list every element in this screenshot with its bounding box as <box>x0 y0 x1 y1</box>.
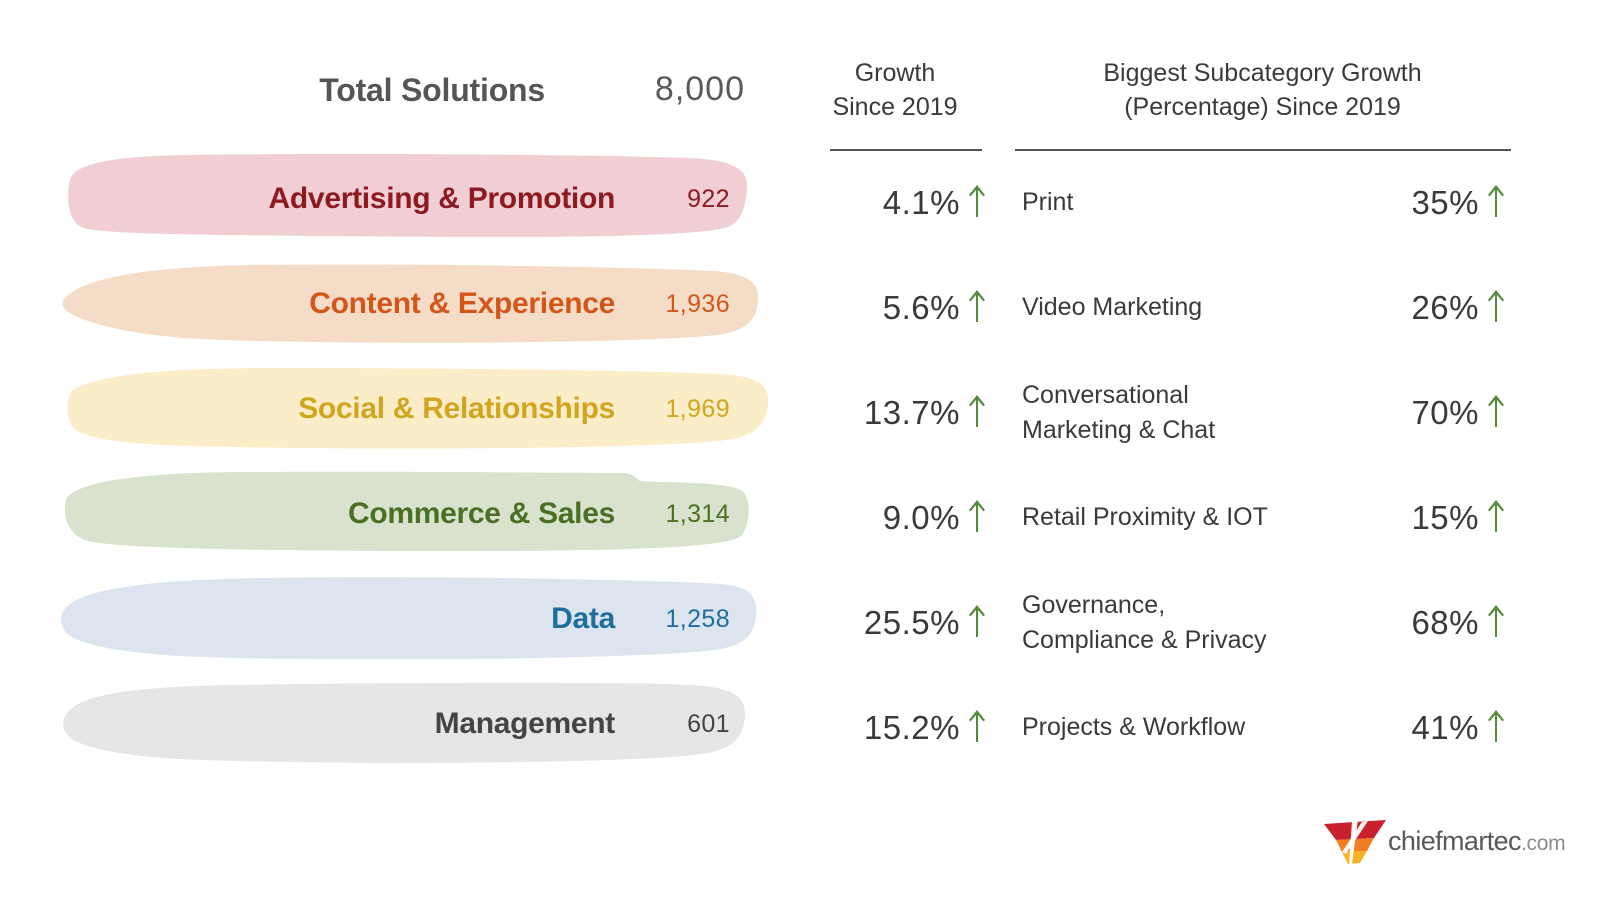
subcategory-up-arrow-icon <box>1486 498 1506 534</box>
growth-value: 9.0% <box>883 499 960 537</box>
subcategory-up-arrow-icon <box>1486 393 1506 429</box>
subcategory-name: ConversationalMarketing & Chat <box>1022 378 1215 448</box>
metrics-column: 4.1%Print35%5.6%Video Marketing26%13.7%C… <box>0 150 1600 800</box>
growth-cell: 25.5% <box>800 570 995 675</box>
subcategory-name-line: Print <box>1022 185 1073 220</box>
growth-up-arrow-icon <box>967 498 987 534</box>
logo-name: chiefmartec <box>1388 826 1521 856</box>
growth-value: 4.1% <box>883 184 960 222</box>
metrics-row: 15.2%Projects & Workflow41% <box>0 675 1600 780</box>
subcategory-name-line: Compliance & Privacy <box>1022 623 1267 658</box>
funnel-icon <box>1322 818 1388 868</box>
header: Total Solutions 8,000 Growth Since 2019 … <box>0 0 1600 150</box>
subcategory-percent-cell: 26% <box>1380 255 1512 360</box>
growth-up-arrow-icon <box>967 288 987 324</box>
growth-cell: 9.0% <box>800 465 995 570</box>
growth-column-header-line2: Since 2019 <box>800 90 990 124</box>
subcategory-up-arrow-icon <box>1486 183 1506 219</box>
growth-up-arrow-icon <box>967 603 987 639</box>
subcategory-percent-value: 41% <box>1411 709 1479 747</box>
growth-cell: 15.2% <box>800 675 995 780</box>
subcategory-name: Print <box>1022 185 1073 220</box>
metrics-row: 4.1%Print35% <box>0 150 1600 255</box>
subcategory-percent-value: 70% <box>1411 394 1479 432</box>
metrics-row: 25.5%Governance,Compliance & Privacy68% <box>0 570 1600 675</box>
chiefmartec-logo[interactable]: chiefmartec.com <box>1322 812 1552 874</box>
subcategory-name-line: Retail Proximity & IOT <box>1022 500 1268 535</box>
subcategory-name-cell: Retail Proximity & IOT <box>1022 465 1382 570</box>
subcategory-name: Projects & Workflow <box>1022 710 1245 745</box>
total-solutions-label: Total Solutions <box>0 72 545 109</box>
growth-value: 13.7% <box>864 394 960 432</box>
subcategory-up-arrow-icon <box>1486 288 1506 324</box>
growth-value: 5.6% <box>883 289 960 327</box>
subcategory-column-header: Biggest Subcategory Growth (Percentage) … <box>1010 56 1515 124</box>
growth-up-arrow-icon <box>967 183 987 219</box>
subcategory-column-header-line2: (Percentage) Since 2019 <box>1010 90 1515 124</box>
subcategory-name-cell: Print <box>1022 150 1382 255</box>
subcategory-name-line: Video Marketing <box>1022 290 1202 325</box>
growth-cell: 5.6% <box>800 255 995 360</box>
subcategory-name: Governance,Compliance & Privacy <box>1022 588 1267 658</box>
subcategory-percent-cell: 70% <box>1380 360 1512 465</box>
metrics-row: 13.7%ConversationalMarketing & Chat70% <box>0 360 1600 465</box>
subcategory-name-line: Marketing & Chat <box>1022 413 1215 448</box>
subcategory-up-arrow-icon <box>1486 603 1506 639</box>
subcategory-percent-cell: 15% <box>1380 465 1512 570</box>
subcategory-name-cell: Governance,Compliance & Privacy <box>1022 570 1382 675</box>
subcategory-name-cell: Projects & Workflow <box>1022 675 1382 780</box>
growth-column-header-line1: Growth <box>800 56 990 90</box>
subcategory-name-cell: ConversationalMarketing & Chat <box>1022 360 1382 465</box>
growth-up-arrow-icon <box>967 708 987 744</box>
metrics-row: 9.0%Retail Proximity & IOT15% <box>0 465 1600 570</box>
subcategory-name-line: Governance, <box>1022 588 1267 623</box>
logo-tld: .com <box>1521 832 1565 855</box>
subcategory-up-arrow-icon <box>1486 708 1506 744</box>
subcategory-percent-value: 35% <box>1411 184 1479 222</box>
subcategory-percent-cell: 41% <box>1380 675 1512 780</box>
growth-value: 25.5% <box>864 604 960 642</box>
growth-cell: 13.7% <box>800 360 995 465</box>
growth-value: 15.2% <box>864 709 960 747</box>
growth-column-header: Growth Since 2019 <box>800 56 990 124</box>
logo-wordmark: chiefmartec.com <box>1388 826 1565 857</box>
subcategory-percent-cell: 35% <box>1380 150 1512 255</box>
growth-cell: 4.1% <box>800 150 995 255</box>
subcategory-percent-value: 15% <box>1411 499 1479 537</box>
subcategory-percent-value: 26% <box>1411 289 1479 327</box>
subcategory-percent-value: 68% <box>1411 604 1479 642</box>
subcategory-percent-cell: 68% <box>1380 570 1512 675</box>
subcategory-name-cell: Video Marketing <box>1022 255 1382 360</box>
subcategory-name-line: Projects & Workflow <box>1022 710 1245 745</box>
subcategory-name-line: Conversational <box>1022 378 1215 413</box>
subcategory-name: Retail Proximity & IOT <box>1022 500 1268 535</box>
subcategory-name: Video Marketing <box>1022 290 1202 325</box>
metrics-row: 5.6%Video Marketing26% <box>0 255 1600 360</box>
growth-up-arrow-icon <box>967 393 987 429</box>
subcategory-column-header-line1: Biggest Subcategory Growth <box>1010 56 1515 90</box>
total-solutions-value: 8,000 <box>560 70 745 109</box>
